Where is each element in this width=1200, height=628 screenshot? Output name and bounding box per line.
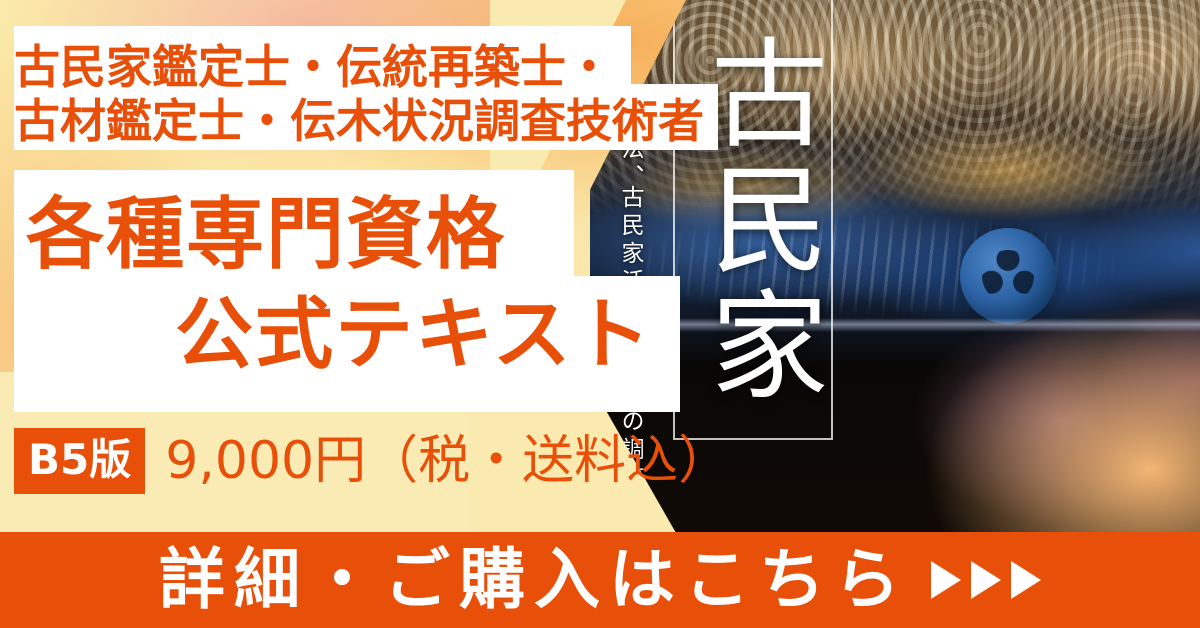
price-row: B5版 9,000円（税・送料込） xyxy=(14,428,730,494)
headline-line-1: 古民家鑑定士・伝統再築士・ xyxy=(14,44,612,90)
title-line-2: 公式テキスト xyxy=(175,296,653,374)
size-badge: B5版 xyxy=(14,428,145,494)
price-amount: 9,000円（税・送料込） xyxy=(165,435,730,487)
chevron-right-icon xyxy=(1011,561,1041,599)
cta-button[interactable]: 詳細・ご購入はこちら xyxy=(0,532,1200,628)
cta-label: 詳細・ご購入はこちら xyxy=(159,547,909,613)
headline-line-2: 古材鑑定士・伝木状況調査技術者 xyxy=(14,98,704,144)
cta-arrow-group xyxy=(931,561,1041,599)
chevron-right-icon xyxy=(931,561,961,599)
title-line-1: 各種専門資格 xyxy=(26,196,506,274)
promo-banner: 古民家 伝統構法、 古民家活用のための調査と再生の 古民家鑑定士・伝統再築士・ … xyxy=(0,0,1200,628)
chevron-right-icon xyxy=(971,561,1001,599)
cover-crest-medallion xyxy=(960,228,1056,324)
cover-title-text: 古民家 xyxy=(678,6,828,436)
